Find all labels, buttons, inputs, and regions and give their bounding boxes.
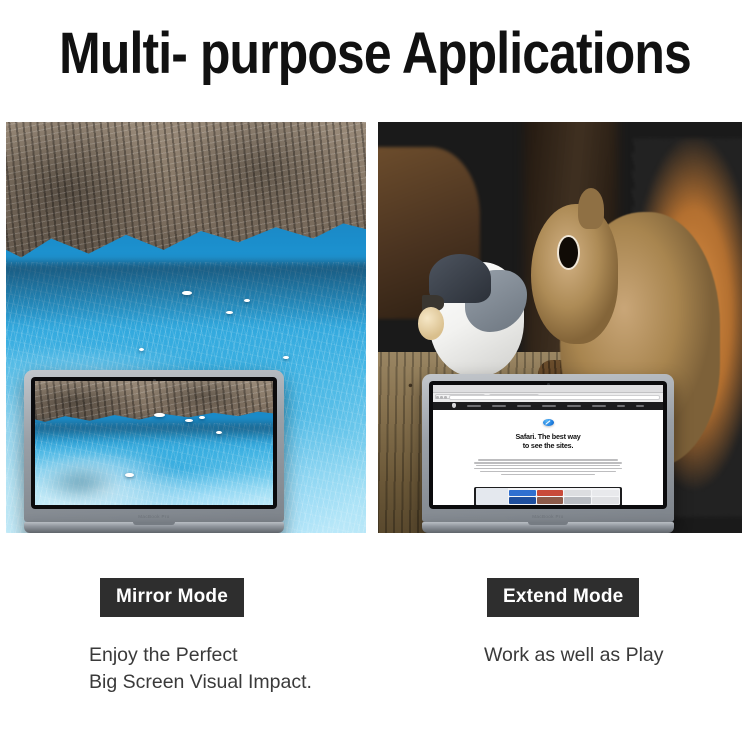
nav-item[interactable] [567, 405, 581, 407]
marketing-banner: Multi- purpose Applications [0, 0, 750, 750]
bag-icon[interactable] [636, 405, 644, 407]
caption-mirror-mode: Enjoy the Perfect Big Screen Visual Impa… [89, 642, 312, 696]
laptop-base-notch [528, 522, 568, 525]
laptop-bezel: Safari. The best way to see the sites. [429, 381, 667, 509]
laptop-base-notch [133, 522, 175, 525]
safari-window: Safari. The best way to see the sites. [433, 385, 663, 505]
laptop-base [24, 522, 284, 533]
squirrel-ear [578, 188, 603, 229]
caption-extend-mode: Work as well as Play [484, 642, 664, 669]
badge-mirror-mode: Mirror Mode [100, 578, 244, 617]
laptop-lid: Safari. The best way to see the sites. [422, 374, 674, 522]
safari-headline-line2: to see the sites. [515, 442, 580, 451]
laptop-screen-safari: Safari. The best way to see the sites. [433, 385, 663, 505]
nav-item[interactable] [517, 405, 531, 407]
safari-compass-icon [543, 419, 554, 426]
safari-page-content: Safari. The best way to see the sites. [433, 410, 663, 505]
badge-extend-mode: Extend Mode [487, 578, 639, 617]
laptop-lid: MacBook Pro [24, 370, 284, 522]
nav-item[interactable] [542, 405, 556, 407]
laptop-model-label: MacBook Pro [24, 514, 284, 519]
nav-item[interactable] [467, 405, 481, 407]
laptop-screen-mirror [35, 381, 273, 505]
panel-mirror-mode: MacBook Pro [6, 122, 366, 533]
page-title: Multi- purpose Applications [53, 22, 698, 86]
safari-headline: Safari. The best way to see the sites. [515, 433, 580, 450]
search-icon[interactable] [617, 405, 625, 407]
nav-item[interactable] [492, 405, 506, 407]
apple-logo-icon[interactable] [452, 403, 456, 408]
seed [418, 307, 443, 340]
url-input[interactable] [449, 395, 661, 400]
safari-screenshot-image [474, 487, 621, 505]
laptop-base [422, 522, 674, 533]
laptop-mirror: MacBook Pro [24, 370, 284, 533]
window-controls[interactable] [436, 396, 447, 399]
apple-global-nav[interactable] [433, 402, 663, 410]
squirrel-head [531, 204, 618, 344]
panel-extend-mode: Safari. The best way to see the sites. [378, 122, 742, 533]
laptop-bezel [31, 377, 277, 509]
nav-item[interactable] [592, 405, 606, 407]
safari-body-paragraph [472, 459, 624, 475]
laptop-model-label: MacBook Pro [422, 514, 674, 519]
safari-address-bar[interactable] [433, 393, 663, 401]
safari-tab-bar[interactable] [433, 385, 663, 393]
laptop-extend: Safari. The best way to see the sites. [422, 374, 674, 533]
